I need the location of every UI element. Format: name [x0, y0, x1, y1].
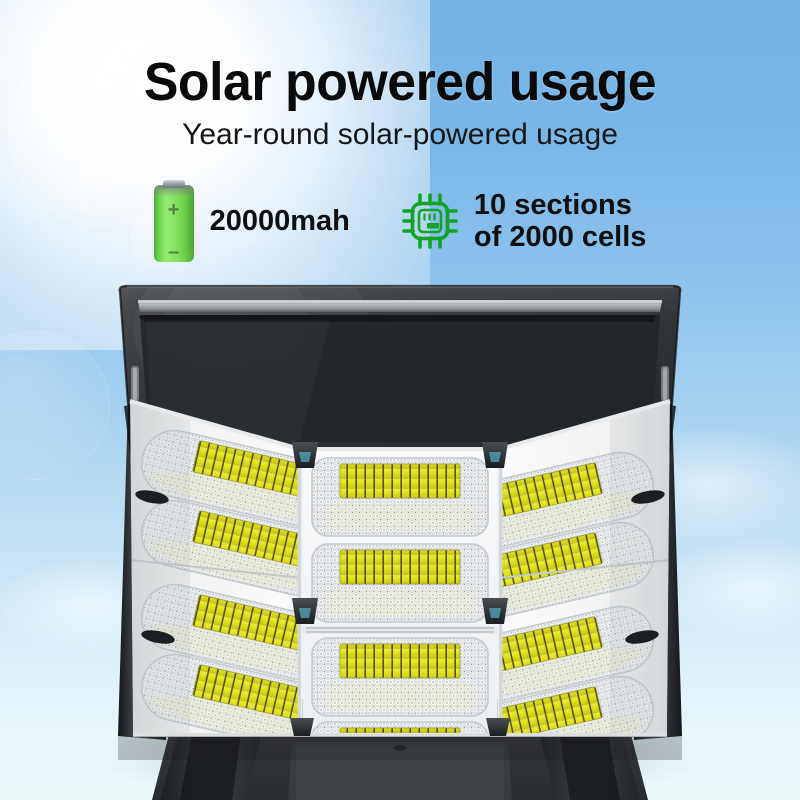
panel-clip [482, 442, 508, 468]
panel-clip [292, 598, 318, 624]
panel-clip [482, 598, 508, 624]
panel-clip [292, 442, 318, 468]
product-marketing-banner: Solar powered usage Year-round solar-pow… [0, 0, 800, 800]
solar-street-light-product [0, 0, 800, 800]
